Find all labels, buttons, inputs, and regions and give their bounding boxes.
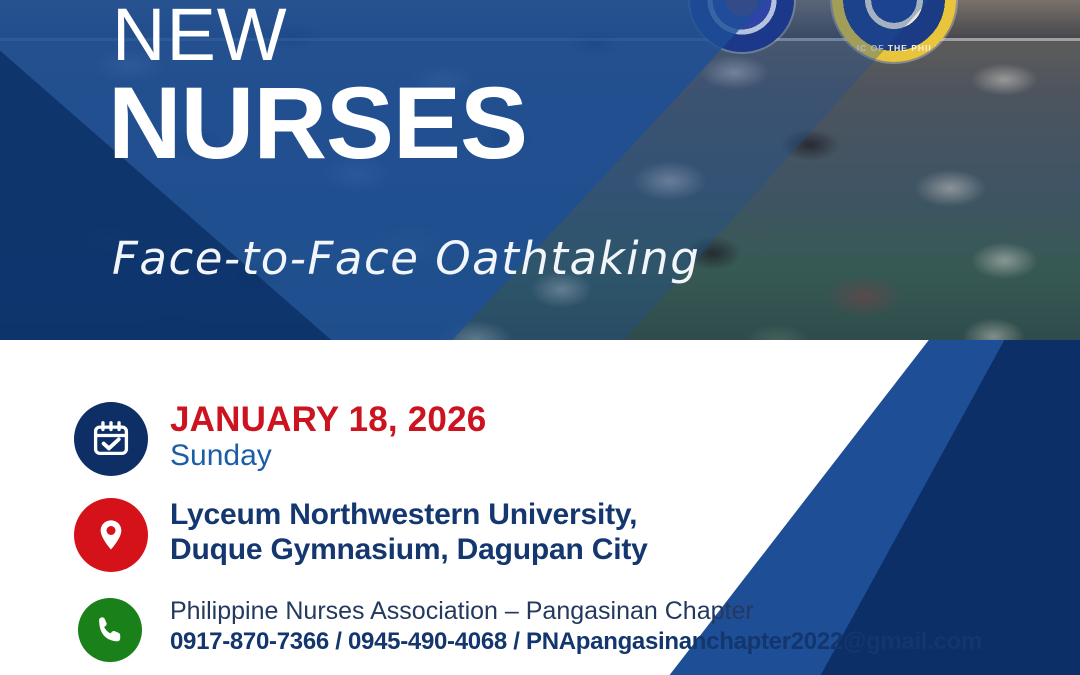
map-pin-icon <box>74 498 148 572</box>
contact-text-group: Philippine Nurses Association – Pangasin… <box>170 596 982 657</box>
hero-banner: BLIC OF THE PHILIP NEW NURSES Face-to-Fa… <box>0 0 1080 362</box>
event-poster: BLIC OF THE PHILIP NEW NURSES Face-to-Fa… <box>0 0 1080 675</box>
calendar-check-icon <box>74 402 148 476</box>
title-line-nurses: NURSES <box>108 72 527 174</box>
contact-numbers-email: 0917-870-7366 / 0945-490-4068 / PNApanga… <box>170 627 982 657</box>
event-details: JANUARY 18, 2026 Sunday Lyceum Northwest… <box>0 340 1080 675</box>
date-text-group: JANUARY 18, 2026 Sunday <box>170 402 486 474</box>
event-date: JANUARY 18, 2026 <box>170 402 486 438</box>
venue-line-1: Lyceum Northwestern University, <box>170 498 648 533</box>
event-day: Sunday <box>170 438 486 473</box>
subtitle-oathtaking: Face-to-Face Oathtaking <box>112 236 700 281</box>
detail-row-date: JANUARY 18, 2026 Sunday <box>74 402 486 476</box>
venue-text-group: Lyceum Northwestern University, Duque Gy… <box>170 498 648 568</box>
hero-copy: NEW NURSES Face-to-Face Oathtaking <box>0 0 820 362</box>
title-line-new: NEW <box>112 0 288 72</box>
phone-icon <box>78 598 142 662</box>
detail-row-venue: Lyceum Northwestern University, Duque Gy… <box>74 498 648 572</box>
venue-line-2: Duque Gymnasium, Dagupan City <box>170 533 648 568</box>
detail-row-contact: Philippine Nurses Association – Pangasin… <box>78 598 982 662</box>
organization-name: Philippine Nurses Association – Pangasin… <box>170 596 982 627</box>
